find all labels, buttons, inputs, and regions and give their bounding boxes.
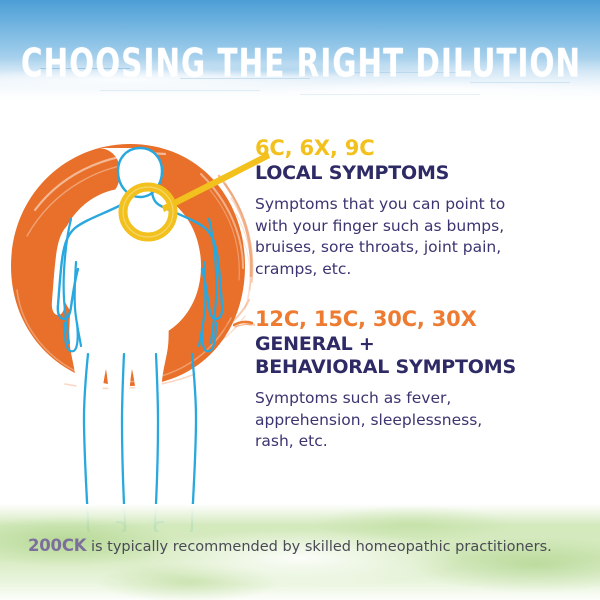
block-kicker-local: 6C, 6X, 9C — [255, 135, 585, 161]
block-subhead-general: GENERAL + BEHAVIORAL SYMPTOMS — [255, 333, 585, 379]
block-kicker-general: 12C, 15C, 30C, 30X — [255, 306, 585, 332]
footer-note-text: is typically recommended by skilled home… — [86, 539, 551, 555]
block-body-general: Symptoms such as fever, apprehension, sl… — [255, 388, 585, 453]
subhead-line: LOCAL SYMPTOMS — [255, 162, 585, 185]
body-line: apprehension, sleeplessness, — [255, 410, 585, 432]
body-line: bruises, sore throats, joint pain, — [255, 237, 585, 259]
subhead-line: GENERAL + — [255, 333, 585, 356]
block-local-symptoms: 6C, 6X, 9C LOCAL SYMPTOMS Symptoms that … — [255, 135, 585, 280]
infographic-canvas: CHOOSING THE RIGHT DILUTION — [0, 0, 600, 600]
page-title: CHOOSING THE RIGHT DILUTION — [21, 42, 579, 87]
block-general-behavioral-symptoms: 12C, 15C, 30C, 30X GENERAL + BEHAVIORAL … — [255, 306, 585, 453]
body-line: rash, etc. — [255, 431, 585, 453]
footer-strong-label: 200CK — [28, 536, 86, 555]
body-line: Symptoms such as fever, — [255, 388, 585, 410]
block-body-local: Symptoms that you can point to with your… — [255, 194, 585, 280]
body-line: cramps, etc. — [255, 259, 585, 281]
block-subhead-local: LOCAL SYMPTOMS — [255, 162, 585, 185]
orange-brush-dash-icon — [233, 315, 253, 323]
body-line: Symptoms that you can point to — [255, 194, 585, 216]
body-line: with your finger such as bumps, — [255, 216, 585, 238]
yellow-target-marker — [118, 150, 278, 260]
footer-note: 200CK is typically recommended by skille… — [28, 536, 588, 557]
dilution-blocks: 6C, 6X, 9C LOCAL SYMPTOMS Symptoms that … — [255, 135, 585, 453]
subhead-line: BEHAVIORAL SYMPTOMS — [255, 356, 585, 379]
